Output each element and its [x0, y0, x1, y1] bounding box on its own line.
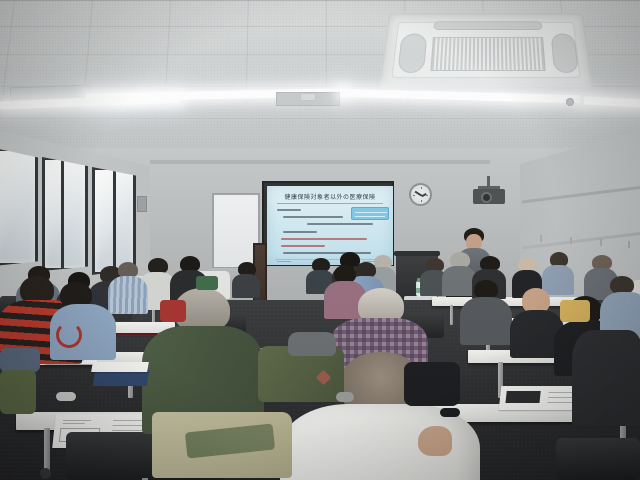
ac-vent-top — [433, 21, 542, 30]
bag-strap-red — [56, 322, 82, 348]
presentation-slide: 健康保険対象者以外の医療保険 — [267, 186, 393, 265]
wall-speaker-left — [137, 196, 147, 212]
slide-footer-rule — [275, 259, 385, 260]
folder-papers — [91, 362, 149, 372]
chair-back-right-front — [556, 438, 640, 480]
slide-bullet-4 — [283, 231, 317, 233]
seminar-room-photo: 健康保険対象者以外の医療保険 — [0, 0, 640, 480]
slide-bullet-3 — [307, 223, 373, 225]
ac-grille — [430, 37, 545, 71]
slide-title-rule — [277, 203, 383, 204]
clock-minute-hand — [415, 191, 423, 197]
wall-hook-3 — [600, 239, 602, 246]
desk-leg — [450, 305, 453, 325]
bag-olive-mid-left — [0, 370, 36, 414]
desk-leg — [44, 428, 50, 472]
slide-bullet-5 — [281, 238, 367, 240]
bag-small-right — [288, 332, 336, 356]
shoe-right — [336, 392, 354, 402]
slide-bullet-2 — [283, 216, 343, 218]
wall-hook-4 — [628, 241, 630, 248]
bag-black-right — [404, 362, 460, 406]
exterior-window-2 — [42, 157, 88, 271]
lectern-top — [394, 251, 440, 256]
handout-photo — [505, 391, 540, 403]
wall-hook-2 — [570, 237, 572, 244]
bag-blue-left — [0, 348, 40, 372]
wall-hook-1 — [540, 235, 542, 242]
slide-bullet-7 — [283, 252, 371, 254]
shoe-left — [56, 392, 76, 401]
wall-clock — [409, 183, 432, 206]
shoe-dark — [440, 408, 460, 417]
slide-bullet-1 — [277, 209, 301, 211]
ceiling-cassette-air-conditioner — [378, 13, 593, 89]
attendee-arm — [418, 426, 452, 456]
exterior-window-1 — [0, 148, 38, 266]
slide-bullet-6 — [281, 245, 325, 247]
sprinkler-head — [566, 98, 574, 106]
bag-green-front — [196, 276, 218, 290]
ceiling — [0, 0, 640, 150]
slide-footer-left — [277, 261, 291, 262]
smoke-detector — [300, 93, 316, 101]
folder-blue — [93, 370, 150, 386]
slide-callout-box — [351, 207, 389, 220]
front-wall-upper-band — [150, 160, 490, 164]
projection-screen: 健康保険対象者以外の医療保険 — [262, 181, 394, 266]
projector-lens — [481, 192, 492, 203]
bag-yellow-right — [560, 300, 590, 322]
exterior-window-3 — [92, 167, 136, 275]
desk-caster — [40, 468, 51, 479]
bag-red-mid — [160, 300, 186, 322]
slide-title: 健康保険対象者以外の医療保険 — [267, 192, 393, 201]
